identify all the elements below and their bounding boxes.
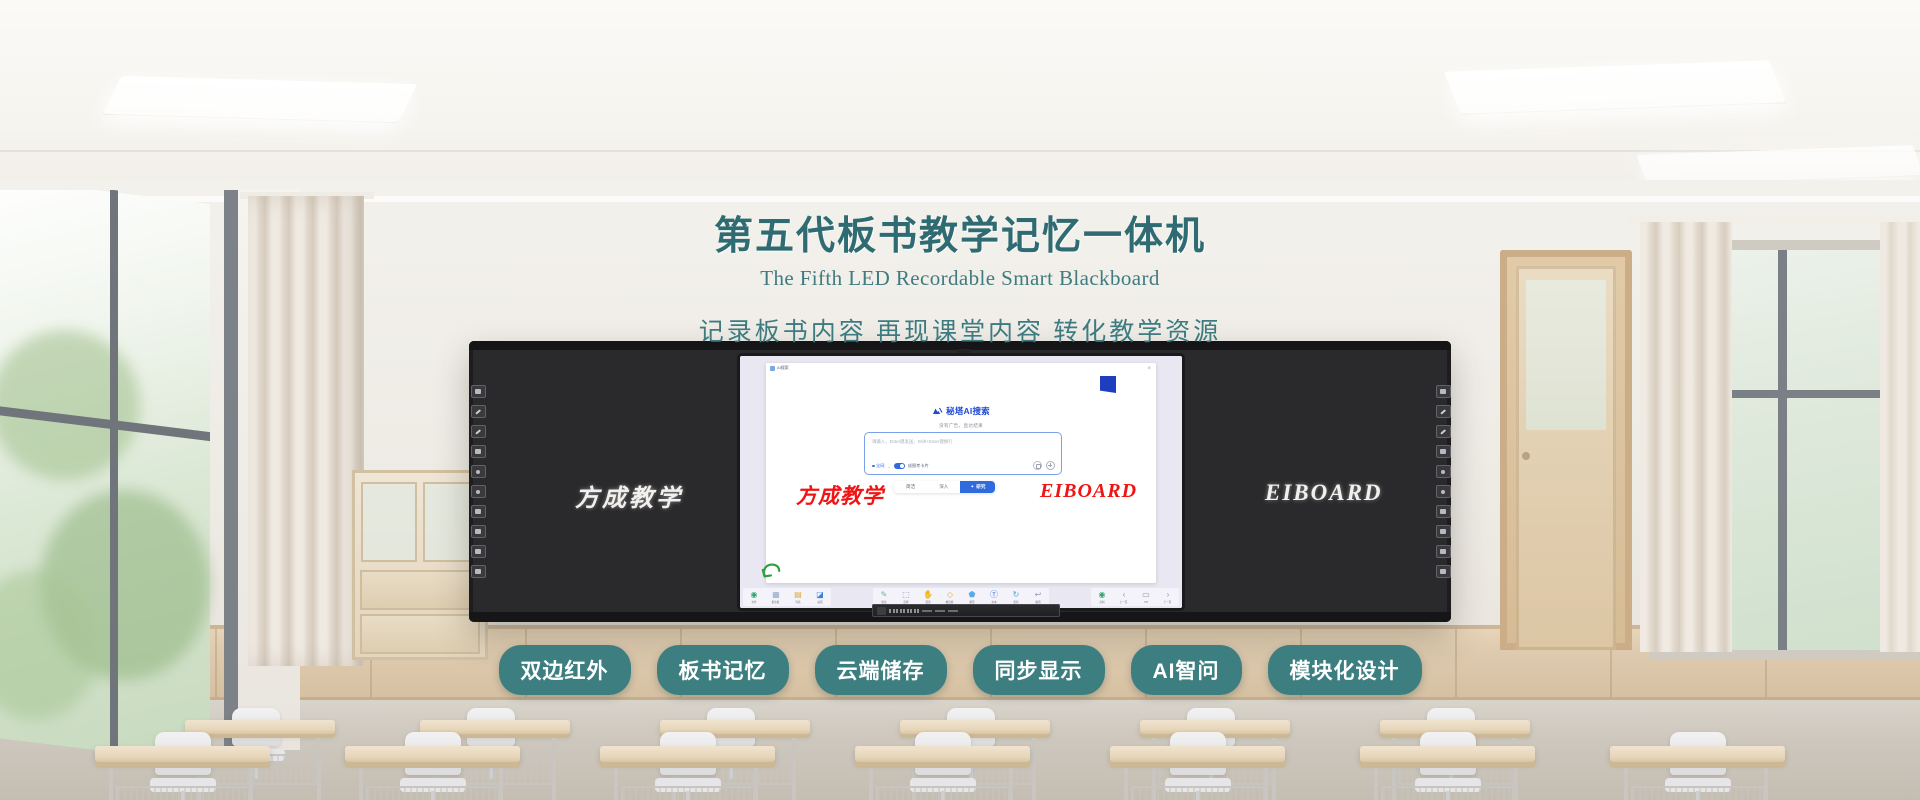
door-knob [1522,452,1530,460]
rail-glyph [1440,389,1446,394]
desk-top [345,746,520,762]
board-right-control-rail[interactable] [1435,385,1451,578]
pen-icon[interactable] [1436,425,1451,438]
rail-glyph [475,429,481,434]
desk-top [1110,746,1285,762]
card-mode-label: 成图考卡片 [908,463,929,469]
rail-glyph [476,490,480,494]
desk [95,746,270,800]
pen-icon[interactable] [471,405,486,418]
pen-icon[interactable] [471,425,486,438]
search-mode-3[interactable]: ✦研究 [960,481,995,493]
desk-basket [366,786,500,800]
toolbar-item[interactable]: ↻更新 [1008,590,1024,604]
toolbar-item[interactable]: ◉文件 [746,590,762,604]
rail-glyph [1441,490,1445,494]
desk-leg [109,768,113,800]
window-tab[interactable]: AI搜索 [770,365,789,371]
chalk-text-right: EIBOARD [1265,480,1383,506]
toolbar-item[interactable]: ✎批注 [876,590,892,604]
page-title: 第五代板书教学记忆一体机 [0,205,1920,261]
desk-edge [345,762,520,768]
blue-flag-shape [1100,376,1116,393]
annotation-red-left: 方成教学 [796,480,884,510]
record-icon: ◉ [1099,590,1106,599]
hdmi-icon[interactable] [1436,525,1451,538]
desk-top [95,746,270,762]
toolbar-item[interactable]: ◪桌面 [812,590,828,604]
settings-icon[interactable] [471,545,486,558]
pen-icon[interactable] [1436,405,1451,418]
search-mode-1[interactable]: 简洁 [894,481,927,493]
toolbar-item-label: 桌面 [817,600,822,603]
rail-glyph [1440,449,1446,454]
sparkle-icon: ✦ [970,484,974,490]
toolbar-item[interactable]: ›下一页 [1160,590,1176,604]
strip-indicator-icon [889,609,919,613]
chevron-down-icon[interactable]: ⌄ [887,464,890,469]
search-mode-buttons[interactable]: 简洁深入✦研究 [894,481,995,493]
toolbar-item-label: 上一页 [1120,600,1128,603]
cabinet-pane [361,482,417,562]
page-subtitle: 记录板书内容 再现课堂内容 转化教学资源 [0,312,1920,348]
metaso-logo-icon [932,407,943,415]
screen-toolbar-left[interactable]: ◉文件▦批注板▤列表◪桌面 [743,588,831,606]
rail-glyph [1440,529,1446,534]
power-icon[interactable] [471,465,486,478]
rail-glyph [475,449,481,454]
annotation-red-right: EIBOARD [1040,480,1137,503]
desk-basket [116,786,250,800]
toolbar-item[interactable]: ⬟图形 [964,590,980,604]
ai-brand-name: 秘塔AI搜索 [946,405,990,417]
card-mode-toggle[interactable] [894,463,905,469]
toolbar-item[interactable]: ▤列表 [790,590,806,604]
headline-block: 第五代板书教学记忆一体机 The Fifth LED Recordable Sm… [0,205,1920,348]
chalk-text-left: 方成教学 [575,478,683,513]
browser-window[interactable]: AI搜索 × 秘塔AI搜索 没有广告，直达结果 请输入，Enter键发送，Shi… [766,363,1156,583]
board-left-control-rail[interactable] [470,385,486,578]
battery-icon[interactable] [471,445,486,458]
desk-edge [95,762,270,768]
desk [1610,746,1785,800]
search-action-icons [1033,461,1055,470]
menu-icon[interactable] [471,565,486,578]
page-icon: ▭ [1142,590,1150,599]
desk [600,746,775,800]
rail-glyph [475,529,481,534]
toolbar-item[interactable]: ▭5/5 [1138,590,1154,604]
eraser-icon: ◇ [947,590,953,599]
toolbar-item-label: 批注板 [772,600,780,603]
shape-icon: ⬟ [969,590,976,599]
feature-pill[interactable]: 模块化设计 [1268,645,1422,695]
search-mode-label: 研究 [976,484,985,490]
strip-slider-icon[interactable] [948,610,958,612]
desk-leg [1514,768,1518,800]
rail-glyph [1440,409,1446,414]
toolbar-item-label: 录制 [1099,600,1104,603]
battery-icon[interactable] [1436,445,1451,458]
desk-leg [754,768,758,800]
desk-leg [869,768,873,800]
search-placeholder: 请输入，Enter键发送，Shift+Enter键换行 [872,439,953,445]
feature-pill[interactable]: 双边红外 [499,645,631,695]
desk-leg [249,768,253,800]
feature-pill[interactable]: 同步显示 [973,645,1105,695]
desk-leg [1009,768,1013,800]
desk-leg [1764,768,1768,800]
next-icon: › [1167,590,1170,599]
desk-basket [1381,786,1515,800]
display-icon[interactable] [471,385,486,398]
ai-tagline: 没有广告，直达结果 [766,423,1156,429]
rail-glyph [1440,429,1446,434]
settings-icon[interactable] [1436,545,1451,558]
toolbar-item[interactable]: ✋漫游 [920,590,936,604]
desk [345,746,520,800]
record-icon[interactable] [1436,485,1451,498]
toolbar-item[interactable]: ↩撤销 [1030,590,1046,604]
strip-slider-icon[interactable] [922,610,932,612]
tab-favicon-icon [770,366,775,371]
record-icon[interactable] [471,485,486,498]
hdmi-icon[interactable] [471,525,486,538]
feature-pill[interactable]: 云端储存 [815,645,947,695]
desk-basket [1131,786,1265,800]
desk-top [1360,746,1535,762]
feature-pill[interactable]: AI智问 [1131,645,1242,695]
file-icon: ◉ [751,590,758,599]
menu-icon[interactable] [1436,565,1451,578]
desk-edge [1610,762,1785,768]
toolbar-item-label: 下一页 [1164,600,1172,603]
rail-glyph [1440,509,1446,514]
stop-icon[interactable] [1436,505,1451,518]
hand-icon: ✋ [923,590,933,599]
desk-leg [1124,768,1128,800]
toolbar-item[interactable]: ▦批注板 [768,590,784,604]
cabinet-drawer [360,570,480,610]
search-input-box[interactable]: 请输入，Enter键发送，Shift+Enter键换行 全网 ⌄ 成图考卡片 [864,432,1062,475]
desk-leg [359,768,363,800]
feature-pill-list: 双边红外板书记忆云端储存同步显示AI智问模块化设计 [0,645,1920,695]
scope-dot-icon [872,465,875,468]
apps-icon: ◪ [816,590,824,599]
desk-edge [1360,762,1535,768]
ai-brand-row: 秘塔AI搜索 [932,405,990,417]
desk-top [1610,746,1785,762]
ai-search-header: 秘塔AI搜索 没有广告，直达结果 [766,402,1156,429]
window-tab-label: AI搜索 [777,365,789,371]
rail-glyph [476,470,480,474]
rail-glyph [475,509,481,514]
text-icon: Ⓣ [990,590,998,599]
select-icon: ⬚ [902,590,910,599]
toolbar-item-label: 5/5 [1144,600,1148,603]
desk-top [600,746,775,762]
toolbar-item-label: 列表 [795,600,800,603]
board-control-strip[interactable] [872,604,1060,617]
camera-icon[interactable] [1033,461,1042,470]
rail-glyph [1440,569,1446,574]
close-icon[interactable]: × [1147,366,1151,372]
toolbar-item[interactable]: ‹上一页 [1116,590,1132,604]
desk-basket [1631,786,1765,800]
stop-icon[interactable] [471,505,486,518]
toolbar-item-label: 文件 [751,600,756,603]
plus-icon[interactable] [1046,461,1055,470]
undo-icon: ↩ [1035,590,1042,599]
pen-icon: ✎ [881,590,888,599]
refresh-icon: ↻ [1013,590,1020,599]
grid-icon: ▦ [772,590,780,599]
screen-toolbar-right[interactable]: ◉录制‹上一页▭5/5›下一页 [1091,588,1179,606]
search-mode-2[interactable]: 深入 [927,481,960,493]
rail-glyph [475,549,481,554]
desk-leg [499,768,503,800]
list-icon: ▤ [794,590,802,599]
undo-arrow-icon [760,560,782,580]
rail-glyph [475,389,481,394]
desk-top [855,746,1030,762]
cabinet [352,470,488,660]
scope-label: 全网 [876,463,884,469]
toolbar-item[interactable]: ⬚选择 [898,590,914,604]
desk-basket [876,786,1010,800]
desk [1110,746,1285,800]
search-scope-selector[interactable]: 全网 [872,463,884,469]
desk-edge [1110,762,1285,768]
page-title-english: The Fifth LED Recordable Smart Blackboar… [0,266,1920,291]
desk-leg [1374,768,1378,800]
ceiling-seam [0,150,1920,152]
toolbar-item[interactable]: ◉录制 [1094,590,1110,604]
strip-slider-icon[interactable] [935,610,945,612]
toolbar-item[interactable]: ◇橡皮擦 [942,590,958,604]
strip-button-icon[interactable] [877,607,886,615]
display-icon[interactable] [1436,385,1451,398]
desk-edge [855,762,1030,768]
desk-edge [600,762,775,768]
rail-glyph [475,409,481,414]
toolbar-item[interactable]: Ⓣ文本 [986,590,1002,604]
rail-glyph [1441,470,1445,474]
desk-leg [1624,768,1628,800]
rail-glyph [475,569,481,574]
desk [855,746,1030,800]
rail-glyph [1440,549,1446,554]
window-titlebar[interactable]: AI搜索 × [766,363,1156,374]
desk [1360,746,1535,800]
search-options-row: 全网 ⌄ 成图考卡片 [872,463,929,469]
feature-pill[interactable]: 板书记忆 [657,645,789,695]
prev-icon: ‹ [1123,590,1126,599]
desk-leg [614,768,618,800]
desk-leg [1264,768,1268,800]
power-icon[interactable] [1436,465,1451,478]
desk-basket [621,786,755,800]
